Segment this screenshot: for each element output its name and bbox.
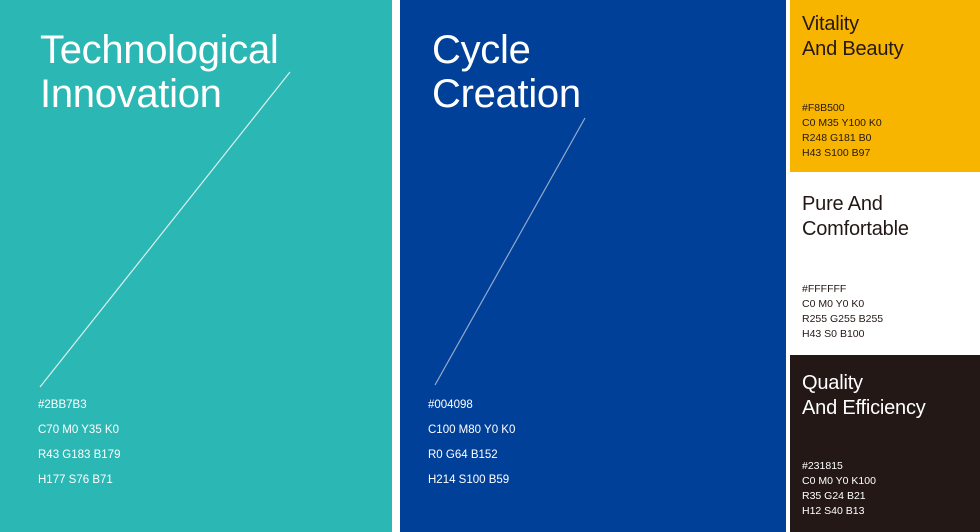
color-spec-pure-and-comfortable: #FFFFFF C0 M0 Y0 K0 R255 G255 B255 H43 S… [802, 282, 883, 342]
spec-hsb: H214 S100 B59 [428, 468, 515, 493]
color-spec-technological-innovation: #2BB7B3 C70 M0 Y35 K0 R43 G183 B179 H177… [38, 393, 120, 493]
spec-hsb: H43 S0 B100 [802, 327, 883, 342]
color-spec-cycle-creation: #004098 C100 M80 Y0 K0 R0 G64 B152 H214 … [428, 393, 515, 493]
spec-cmyk: C70 M0 Y35 K0 [38, 418, 120, 443]
spec-rgb: R255 G255 B255 [802, 312, 883, 327]
color-swatch-quality-and-efficiency: Quality And Efficiency #231815 C0 M0 Y0 … [790, 355, 980, 532]
swatch-title-vitality-and-beauty: Vitality And Beauty [802, 12, 903, 62]
spec-rgb: R35 G24 B21 [802, 489, 876, 504]
spec-hex: #2BB7B3 [38, 393, 120, 418]
color-panel-technological-innovation: Technological Innovation #2BB7B3 C70 M0 … [0, 0, 392, 532]
spec-hsb: H12 S40 B13 [802, 504, 876, 519]
color-panel-cycle-creation: Cycle Creation #004098 C100 M80 Y0 K0 R0… [400, 0, 786, 532]
swatch-title-pure-and-comfortable: Pure And Comfortable [802, 192, 909, 242]
spec-cmyk: C0 M0 Y0 K0 [802, 297, 883, 312]
spec-hex: #F8B500 [802, 101, 882, 116]
spec-hex: #231815 [802, 459, 876, 474]
spec-cmyk: C100 M80 Y0 K0 [428, 418, 515, 443]
spec-cmyk: C0 M35 Y100 K0 [802, 116, 882, 131]
panel-title-cycle-creation: Cycle Creation [432, 28, 581, 116]
swatch-column: Vitality And Beauty #F8B500 C0 M35 Y100 … [790, 0, 980, 532]
color-spec-vitality-and-beauty: #F8B500 C0 M35 Y100 K0 R248 G181 B0 H43 … [802, 101, 882, 161]
spec-hex: #004098 [428, 393, 515, 418]
color-spec-quality-and-efficiency: #231815 C0 M0 Y0 K100 R35 G24 B21 H12 S4… [802, 459, 876, 519]
spec-rgb: R43 G183 B179 [38, 443, 120, 468]
spec-rgb: R248 G181 B0 [802, 131, 882, 146]
swatch-title-quality-and-efficiency: Quality And Efficiency [802, 371, 926, 421]
spec-hex: #FFFFFF [802, 282, 883, 297]
spec-cmyk: C0 M0 Y0 K100 [802, 474, 876, 489]
spec-hsb: H177 S76 B71 [38, 468, 120, 493]
spec-hsb: H43 S100 B97 [802, 146, 882, 161]
color-palette-board: Technological Innovation #2BB7B3 C70 M0 … [0, 0, 980, 532]
panel-title-technological-innovation: Technological Innovation [40, 28, 278, 116]
color-swatch-vitality-and-beauty: Vitality And Beauty #F8B500 C0 M35 Y100 … [790, 0, 980, 172]
color-swatch-pure-and-comfortable: Pure And Comfortable #FFFFFF C0 M0 Y0 K0… [790, 172, 980, 355]
spec-rgb: R0 G64 B152 [428, 443, 515, 468]
